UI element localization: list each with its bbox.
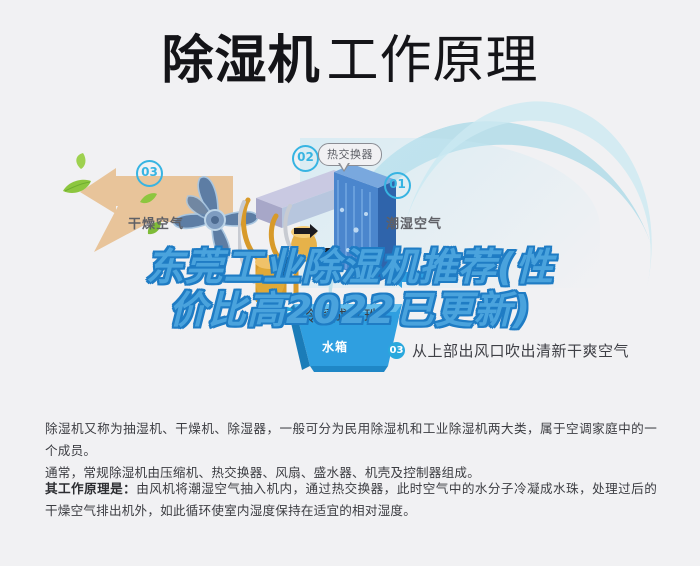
leaf-icon bbox=[140, 192, 157, 205]
legend-item-02: 02 冷凝成水珠 bbox=[278, 305, 380, 326]
badge-03: 03 bbox=[136, 160, 163, 187]
legend-item-03: 03 从上部出风口吹出清新干爽空气 bbox=[388, 340, 629, 361]
paragraph-1-sentence-1: 除湿机又称为抽湿机、干燥机、除湿器，一般可分为民用除湿机和工业除湿机两大类，属于… bbox=[45, 421, 657, 458]
hero-infographic: 除湿机工作原理 bbox=[0, 0, 700, 400]
title-part-b: 工作原理 bbox=[327, 31, 539, 91]
label-dry-air: 干燥空气 bbox=[128, 213, 184, 232]
legend-badge-03: 03 bbox=[388, 342, 405, 359]
badge-01: 01 bbox=[384, 172, 411, 199]
infographic-page: 除湿机工作原理 bbox=[0, 0, 700, 566]
label-humid-air: 潮湿空气 bbox=[386, 213, 442, 232]
leaf-icon bbox=[62, 178, 92, 196]
leaf-icon bbox=[74, 153, 88, 169]
legend-badge-02: 02 bbox=[278, 307, 295, 324]
legend-text-02: 冷凝成水珠 bbox=[302, 305, 380, 326]
page-title: 除湿机工作原理 bbox=[0, 30, 700, 92]
callout-heat-exchanger: 热交换器 bbox=[318, 143, 382, 166]
paragraph-2-body: 由风机将潮湿空气抽入机内，通过热交换器，此时空气中的水分子冷凝成水珠，处理过后的… bbox=[45, 481, 657, 518]
title-part-a: 除湿机 bbox=[161, 31, 320, 91]
tank-label: 水箱 bbox=[322, 338, 348, 355]
paragraph-definition: 除湿机又称为抽湿机、干燥机、除湿器，一般可分为民用除湿机和工业除湿机两大类，属于… bbox=[45, 418, 657, 484]
paragraph-2-lead: 其工作原理是： bbox=[45, 481, 136, 496]
badge-02: 02 bbox=[292, 145, 319, 172]
paragraph-principle: 其工作原理是：由风机将潮湿空气抽入机内，通过热交换器，此时空气中的水分子冷凝成水… bbox=[45, 478, 657, 522]
callout-tail-inner bbox=[340, 163, 348, 170]
legend-text-03: 从上部出风口吹出清新干爽空气 bbox=[412, 340, 629, 361]
